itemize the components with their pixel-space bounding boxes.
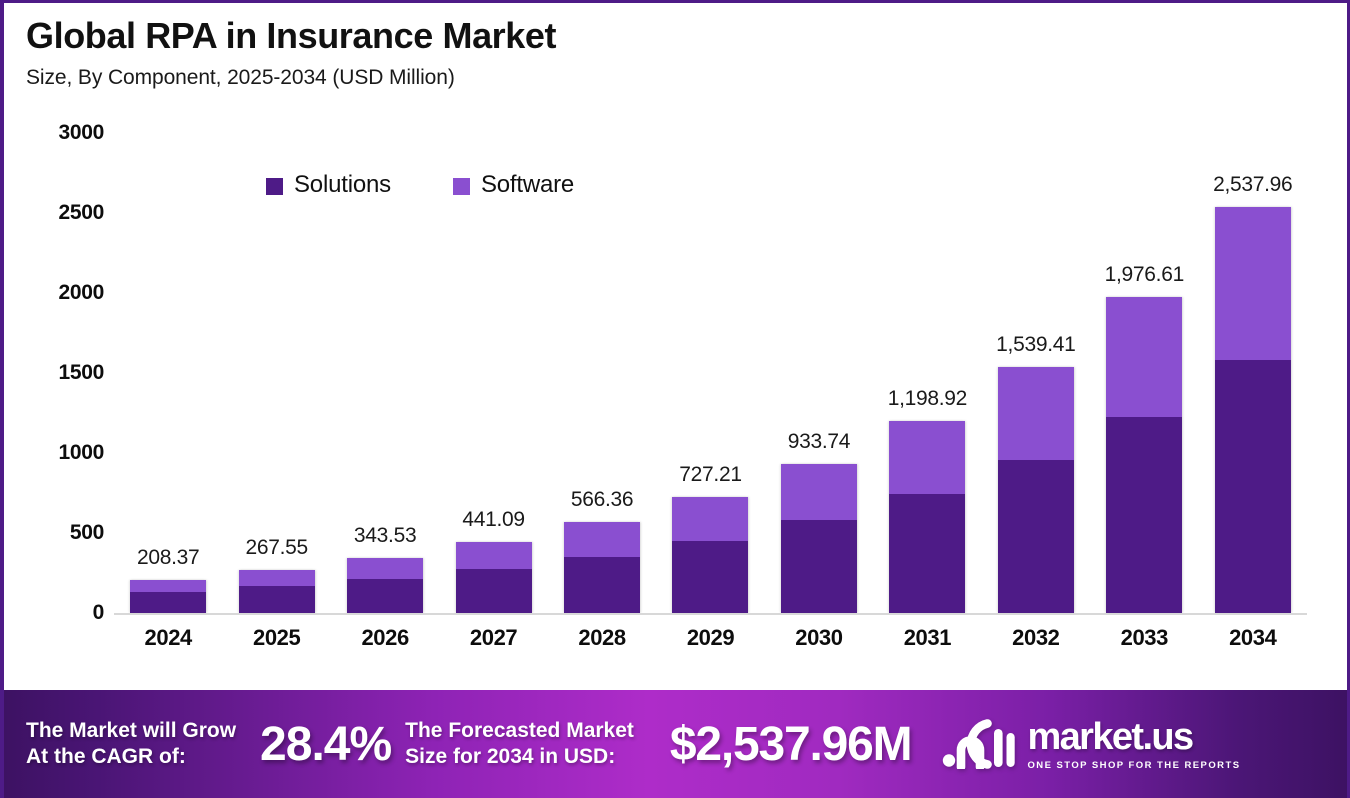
legend-label: Software bbox=[481, 171, 574, 199]
bar-value-label: 441.09 bbox=[462, 508, 524, 532]
bar-segment-solutions[interactable] bbox=[1106, 417, 1182, 613]
bar-stack[interactable] bbox=[672, 497, 748, 613]
logo-wordmark: market.us bbox=[1027, 718, 1240, 756]
bar-segment-software[interactable] bbox=[1215, 207, 1291, 360]
bar-value-label: 1,198.92 bbox=[888, 387, 967, 411]
y-axis-tick: 1500 bbox=[4, 361, 104, 385]
bar-value-label: 727.21 bbox=[679, 463, 741, 487]
x-axis-tick: 2028 bbox=[548, 625, 656, 651]
logo-text: market.us ONE STOP SHOP FOR THE REPORTS bbox=[1027, 718, 1240, 771]
bar-segment-solutions[interactable] bbox=[239, 586, 315, 613]
x-axis-tick: 2031 bbox=[873, 625, 981, 651]
bar-segment-solutions[interactable] bbox=[564, 557, 640, 613]
bar-stack[interactable] bbox=[130, 580, 206, 613]
bar-stack[interactable] bbox=[456, 542, 532, 613]
bar-group[interactable]: 208.37 bbox=[114, 133, 222, 613]
bar-value-label: 1,976.61 bbox=[1105, 263, 1184, 287]
chart-plot-region: 050010001500200025003000 208.37267.55343… bbox=[4, 133, 1347, 693]
header: Global RPA in Insurance Market Size, By … bbox=[26, 17, 1326, 90]
bar-group[interactable]: 933.74 bbox=[765, 133, 873, 613]
bar-group[interactable]: 343.53 bbox=[331, 133, 439, 613]
y-axis-tick: 500 bbox=[4, 521, 104, 545]
bar-stack[interactable] bbox=[564, 522, 640, 613]
bar-segment-solutions[interactable] bbox=[1215, 360, 1291, 613]
bar-segment-software[interactable] bbox=[781, 464, 857, 521]
chart-infographic: Global RPA in Insurance Market Size, By … bbox=[0, 0, 1350, 798]
bar-segment-software[interactable] bbox=[456, 542, 532, 569]
bar-segment-software[interactable] bbox=[239, 570, 315, 586]
x-axis-tick: 2032 bbox=[982, 625, 1090, 651]
x-axis-tick: 2029 bbox=[656, 625, 764, 651]
legend-swatch-icon bbox=[453, 178, 470, 195]
x-axis-tick: 2033 bbox=[1090, 625, 1198, 651]
bar-value-label: 1,539.41 bbox=[996, 333, 1075, 357]
bar-stack[interactable] bbox=[781, 464, 857, 613]
bar-segment-software[interactable] bbox=[889, 421, 965, 494]
y-axis: 050010001500200025003000 bbox=[4, 133, 104, 618]
y-axis-tick: 3000 bbox=[4, 121, 104, 145]
page-subtitle: Size, By Component, 2025-2034 (USD Milli… bbox=[26, 66, 1326, 90]
bar-value-label: 208.37 bbox=[137, 546, 199, 570]
x-axis-line bbox=[114, 613, 1307, 615]
bar-segment-software[interactable] bbox=[564, 522, 640, 556]
bar-group[interactable]: 441.09 bbox=[439, 133, 547, 613]
bar-value-label: 566.36 bbox=[571, 488, 633, 512]
x-axis-tick: 2025 bbox=[222, 625, 330, 651]
cagr-caption-line-2: At the CAGR of: bbox=[26, 744, 236, 770]
forecast-caption-line-1: The Forecasted Market bbox=[405, 718, 634, 744]
bar-value-label: 933.74 bbox=[788, 430, 850, 454]
bar-segment-software[interactable] bbox=[672, 497, 748, 541]
chart-legend: SolutionsSoftware bbox=[266, 171, 574, 199]
bar-segment-software[interactable] bbox=[998, 367, 1074, 461]
bar-segment-solutions[interactable] bbox=[889, 494, 965, 613]
x-axis-tick: 2027 bbox=[439, 625, 547, 651]
x-axis: 2024202520262027202820292030203120322033… bbox=[114, 625, 1307, 651]
bar-group[interactable]: 727.21 bbox=[656, 133, 764, 613]
market-us-logo[interactable]: market.us ONE STOP SHOP FOR THE REPORTS bbox=[941, 718, 1240, 771]
page-title: Global RPA in Insurance Market bbox=[26, 17, 1326, 56]
bar-series-container: 208.37267.55343.53441.09566.36727.21933.… bbox=[114, 133, 1307, 613]
bar-segment-solutions[interactable] bbox=[347, 579, 423, 613]
bar-segment-software[interactable] bbox=[1106, 297, 1182, 417]
bar-group[interactable]: 566.36 bbox=[548, 133, 656, 613]
bar-value-label: 343.53 bbox=[354, 524, 416, 548]
x-axis-tick: 2034 bbox=[1199, 625, 1307, 651]
legend-item-software[interactable]: Software bbox=[453, 171, 574, 199]
forecast-caption: The Forecasted Market Size for 2034 in U… bbox=[405, 718, 634, 769]
bar-group[interactable]: 1,976.61 bbox=[1090, 133, 1198, 613]
bar-segment-solutions[interactable] bbox=[781, 520, 857, 613]
bar-group[interactable]: 267.55 bbox=[222, 133, 330, 613]
bar-stack[interactable] bbox=[347, 558, 423, 613]
bar-segment-solutions[interactable] bbox=[456, 569, 532, 613]
bar-value-label: 2,537.96 bbox=[1213, 173, 1292, 197]
bar-segment-software[interactable] bbox=[347, 558, 423, 579]
bar-stack[interactable] bbox=[1106, 297, 1182, 613]
y-axis-tick: 0 bbox=[4, 601, 104, 625]
forecast-caption-line-2: Size for 2034 in USD: bbox=[405, 744, 634, 770]
x-axis-tick: 2026 bbox=[331, 625, 439, 651]
y-axis-tick: 2500 bbox=[4, 201, 104, 225]
bar-segment-solutions[interactable] bbox=[130, 592, 206, 613]
x-axis-tick: 2024 bbox=[114, 625, 222, 651]
y-axis-tick: 2000 bbox=[4, 281, 104, 305]
bar-stack[interactable] bbox=[998, 367, 1074, 613]
bar-group[interactable]: 1,198.92 bbox=[873, 133, 981, 613]
footer-banner: The Market will Grow At the CAGR of: 28.… bbox=[4, 690, 1347, 798]
bar-segment-software[interactable] bbox=[130, 580, 206, 593]
legend-swatch-icon bbox=[266, 178, 283, 195]
plot-area: 208.37267.55343.53441.09566.36727.21933.… bbox=[114, 133, 1307, 615]
x-axis-tick: 2030 bbox=[765, 625, 873, 651]
bar-group[interactable]: 2,537.96 bbox=[1199, 133, 1307, 613]
bar-stack[interactable] bbox=[889, 421, 965, 613]
cagr-value: 28.4% bbox=[260, 717, 391, 772]
bar-stack[interactable] bbox=[239, 570, 315, 613]
cagr-caption: The Market will Grow At the CAGR of: bbox=[26, 718, 236, 769]
bar-segment-solutions[interactable] bbox=[998, 460, 1074, 613]
bar-segment-solutions[interactable] bbox=[672, 541, 748, 613]
y-axis-tick: 1000 bbox=[4, 441, 104, 465]
forecast-value: $2,537.96M bbox=[670, 717, 912, 772]
cagr-caption-line-1: The Market will Grow bbox=[26, 718, 236, 744]
legend-label: Solutions bbox=[294, 171, 391, 199]
market-us-logo-icon bbox=[941, 719, 1015, 769]
bar-stack[interactable] bbox=[1215, 207, 1291, 613]
logo-tagline: ONE STOP SHOP FOR THE REPORTS bbox=[1027, 760, 1240, 771]
bar-group[interactable]: 1,539.41 bbox=[982, 133, 1090, 613]
bar-value-label: 267.55 bbox=[245, 536, 307, 560]
legend-item-solutions[interactable]: Solutions bbox=[266, 171, 391, 199]
